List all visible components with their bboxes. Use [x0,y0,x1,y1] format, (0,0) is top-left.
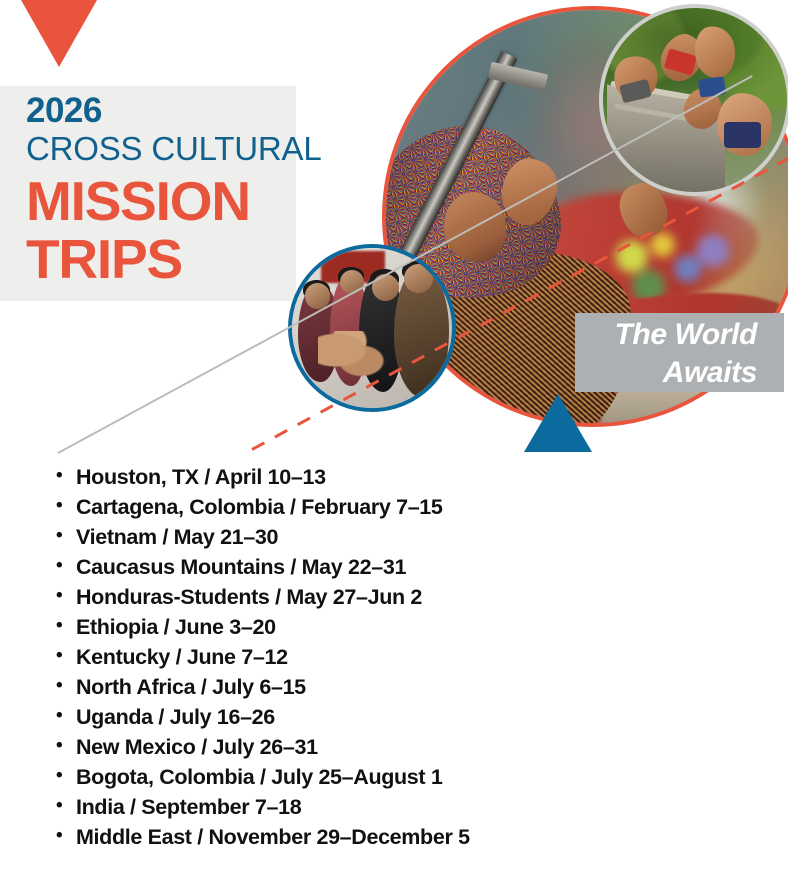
photo-woman-paddling-boat-market [386,10,788,423]
list-item: Bogota, Colombia / July 25–August 1 [52,762,752,792]
mission-trips-poster: The World Awaits 2026 CROSS CULTURAL MIS… [0,0,788,872]
headline-year: 2026 [26,92,446,130]
headline-subtitle: CROSS CULTURAL [26,130,446,168]
tagline-text: The World Awaits [575,310,771,392]
photo-boys-jumping-off-pier [603,8,787,192]
headline-main-line2: TRIPS [26,230,446,288]
list-item: India / September 7–18 [52,792,752,822]
list-item: Kentucky / June 7–12 [52,642,752,672]
list-item: Houston, TX / April 10–13 [52,462,752,492]
list-item: Honduras-Students / May 27–Jun 2 [52,582,752,612]
page-title: 2026 CROSS CULTURAL MISSION TRIPS [26,92,446,288]
blue-up-triangle-icon [524,394,592,452]
list-item: Middle East / November 29–December 5 [52,822,752,852]
trips-list: Houston, TX / April 10–13Cartagena, Colo… [52,462,752,852]
list-item: North Africa / July 6–15 [52,672,752,702]
orange-down-triangle-icon [21,0,97,67]
tagline-background-bar [575,313,784,392]
headline-main-line1: MISSION [26,172,446,230]
list-item: Uganda / July 16–26 [52,702,752,732]
list-item: New Mexico / July 26–31 [52,732,752,762]
list-item: Ethiopia / June 3–20 [52,612,752,642]
list-item: Cartagena, Colombia / February 7–15 [52,492,752,522]
list-item: Caucasus Mountains / May 22–31 [52,552,752,582]
list-item: Vietnam / May 21–30 [52,522,752,552]
